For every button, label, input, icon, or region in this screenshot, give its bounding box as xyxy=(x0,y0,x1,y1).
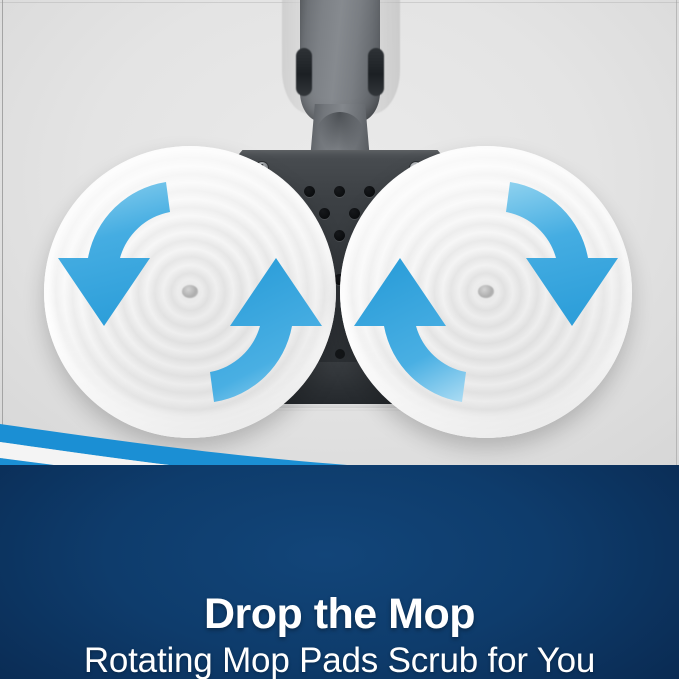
product-feature-image: Drop the Mop Rotating Mop Pads Scrub for… xyxy=(0,0,679,679)
subheadline: Rotating Mop Pads Scrub for You xyxy=(0,641,679,679)
left-up-arrow xyxy=(210,258,322,402)
left-rotation-arrow-icon xyxy=(44,146,336,438)
handle-pivot-notch-left xyxy=(296,48,312,96)
left-down-arrow xyxy=(58,182,170,326)
handle-pivot-notch-right xyxy=(368,48,384,96)
right-down-arrow xyxy=(506,182,618,326)
right-rotation-arrow-icon xyxy=(340,146,632,438)
product-photo xyxy=(0,0,679,470)
headline: Drop the Mop xyxy=(0,590,679,639)
right-up-arrow xyxy=(354,258,466,402)
caption-banner: Drop the Mop Rotating Mop Pads Scrub for… xyxy=(0,465,679,679)
